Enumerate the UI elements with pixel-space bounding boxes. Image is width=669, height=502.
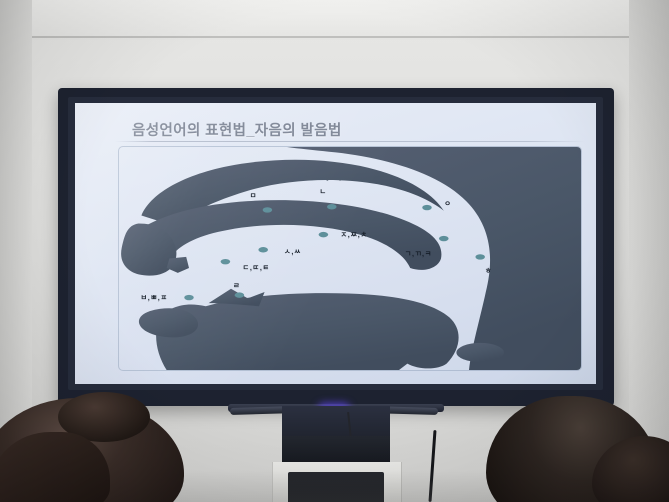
label-velar-nasal: ㅇ: [444, 199, 451, 209]
label-bilabial-nasal: ㅁ: [250, 191, 257, 201]
dot-velar-nasal: [422, 205, 432, 210]
dot-alveolar-fricatives: [258, 247, 268, 252]
label-palatal-affricates: ㅈ,ㅉ,ㅊ: [340, 230, 367, 240]
vocal-tract-diagram: [119, 147, 581, 370]
tv-screen[interactable]: 음성언어의 표현법_자음의 발음법 자음이 소리나는 자리: [75, 103, 596, 384]
dot-velar-stops: [439, 236, 449, 241]
label-alveolar-nasal: ㄴ: [320, 187, 327, 197]
tongue-body-shape: [156, 293, 458, 370]
dot-palatal-affricates: [319, 232, 329, 237]
slide-title: 음성언어의 표현법_자음의 발음법: [132, 119, 342, 140]
presentation-slide: 음성언어의 표현법_자음의 발음법 자음이 소리나는 자리: [75, 103, 596, 384]
dot-alveolar-liquid: [235, 292, 245, 297]
epiglottis-shape: [456, 343, 504, 362]
label-velar-stops: ㄱ,ㄲ,ㅋ: [405, 249, 432, 259]
room-ceiling: [0, 0, 669, 40]
dot-alveolar-stops: [221, 259, 231, 264]
dot-bilabial-nasal: [263, 207, 273, 212]
tv-stand-neck: [282, 406, 390, 438]
label-bilabial-stops: ㅂ,ㅃ,ㅍ: [140, 293, 167, 303]
tooth-notch-shape: [167, 257, 189, 273]
label-alveolar-liquid: ㄹ: [233, 281, 240, 291]
soft-palate-shape: [142, 200, 441, 270]
tv-stand-shelf: [282, 436, 390, 462]
slide-content-box: 자음이 소리나는 자리: [118, 146, 582, 371]
photo-scene: 음성언어의 표현법_자음의 발음법 자음이 소리나는 자리: [0, 0, 669, 502]
dot-glottal-fricative: [475, 254, 485, 259]
label-alveolar-fricatives: ㅅ,ㅆ: [284, 247, 301, 257]
ceiling-wall-seam: [0, 36, 669, 38]
label-glottal-fricative: ㅎ: [485, 266, 492, 276]
lower-lip-shape: [139, 308, 198, 337]
dot-alveolar-nasal: [327, 204, 337, 209]
title-underline: [115, 141, 585, 142]
television[interactable]: 음성언어의 표현법_자음의 발음법 자음이 소리나는 자리: [58, 88, 614, 406]
dot-bilabial-stops: [184, 295, 194, 300]
label-alveolar-stops: ㄷ,ㄸ,ㅌ: [243, 263, 270, 273]
